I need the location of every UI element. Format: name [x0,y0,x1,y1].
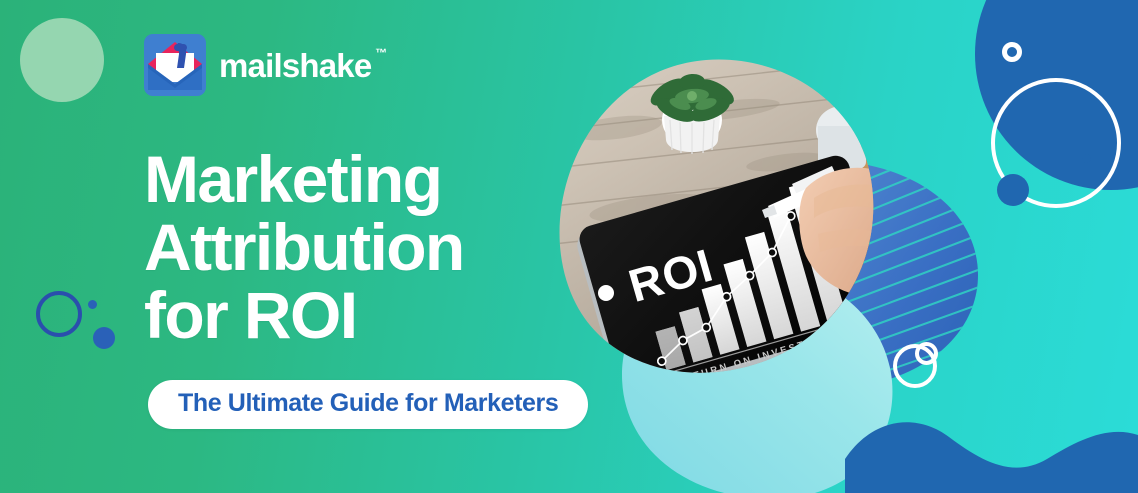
headline-line-2: Attribution [144,214,464,282]
mailshake-envelope-logo-icon [144,34,206,96]
white-ring-bottom-b-icon [915,342,938,365]
marketing-banner: ROI RETURN ON INVESTMENT [0,0,1138,493]
white-ring-large-icon [991,78,1121,208]
blue-dot-left-medium-icon [93,327,115,349]
blue-wave-blob-icon [845,375,1138,493]
subtitle-pill[interactable]: The Ultimate Guide for Marketers [148,380,588,429]
blue-circle-large-icon [975,0,1138,190]
headline-line-1: Marketing [144,146,464,214]
page-title: Marketing Attribution for ROI [144,146,464,350]
trademark-symbol: ™ [375,47,386,59]
mailshake-logo[interactable]: mailshake™ [144,34,371,96]
mailshake-wordmark: mailshake™ [219,49,371,82]
white-ring-bottom-a-icon [893,344,937,388]
pale-green-circle-icon [20,18,104,102]
hero-photo: ROI RETURN ON INVESTMENT [556,58,876,383]
headline-line-3: for ROI [144,282,464,350]
blue-dot-tiny-icon [1082,154,1091,163]
blue-dot-left-small-icon [88,300,97,309]
blue-ring-left-icon [36,291,82,337]
white-ring-small-icon [1002,42,1022,62]
mailshake-wordmark-text: mailshake [219,47,371,84]
blue-dot-large-icon [997,174,1029,206]
